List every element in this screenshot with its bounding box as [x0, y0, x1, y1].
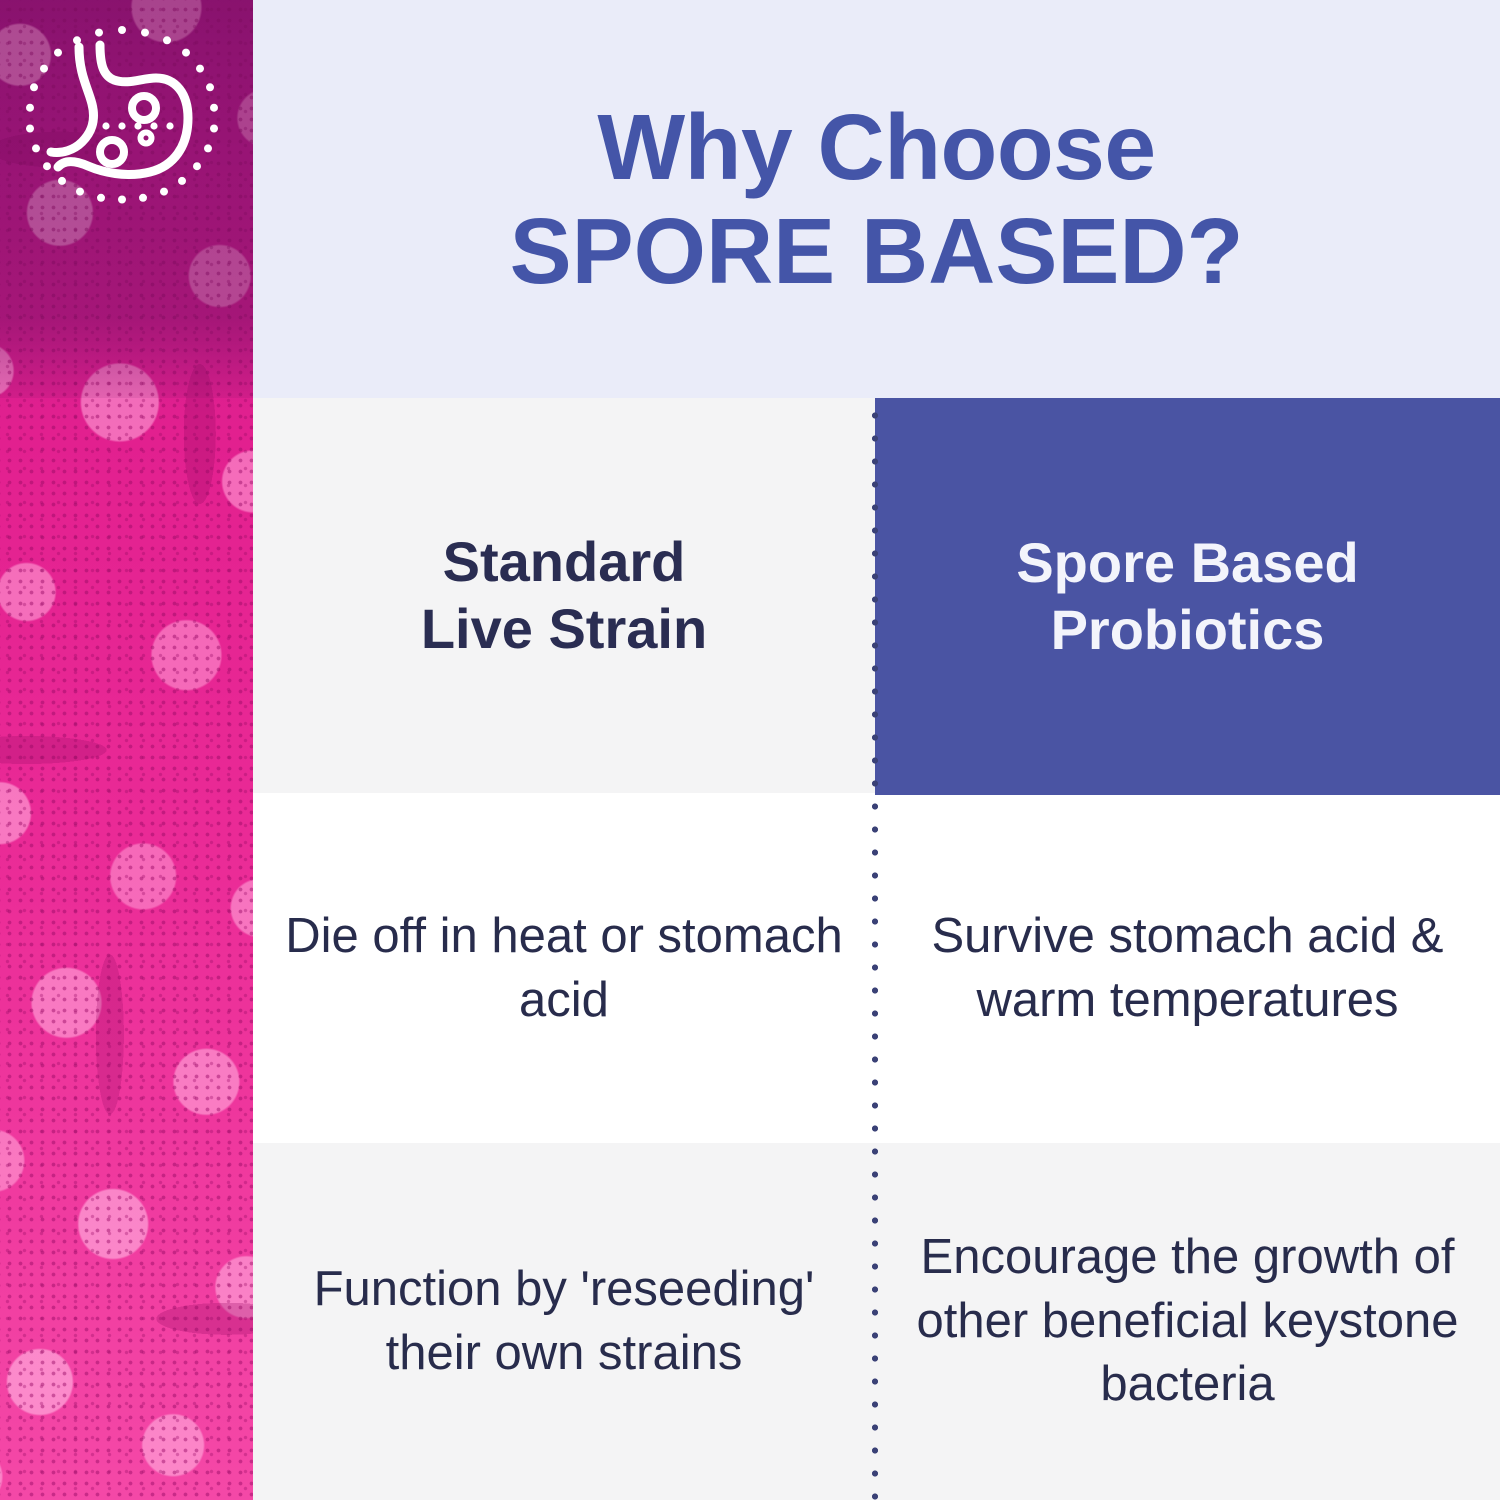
- column-divider: [872, 404, 878, 1500]
- column-header-standard-line-1: Standard: [421, 529, 707, 595]
- column-header-spore: Spore Based Probiotics: [875, 398, 1500, 795]
- title-line-1: Why Choose: [510, 95, 1244, 199]
- column-header-standard-line-2: Live Strain: [421, 596, 707, 662]
- column-header-standard-text: Standard Live Strain: [421, 529, 707, 661]
- column-header-spore-text: Spore Based Probiotics: [1016, 530, 1358, 662]
- column-header-standard: Standard Live Strain: [253, 398, 875, 793]
- infographic-page: Why Choose SPORE BASED? Standard Live St…: [0, 0, 1500, 1500]
- column-header-spore-line-2: Probiotics: [1016, 597, 1358, 663]
- header-band: Why Choose SPORE BASED?: [253, 0, 1500, 398]
- stomach-icon: [22, 22, 222, 222]
- cell-standard-1: Die off in heat or stomach acid: [253, 795, 875, 1143]
- column-header-spore-line-1: Spore Based: [1016, 530, 1358, 596]
- cell-texture-strip: [0, 0, 253, 1500]
- cell-standard-2: Function by 'reseeding' their own strain…: [253, 1143, 875, 1500]
- cell-spore-2: Encourage the growth of other beneficial…: [875, 1143, 1500, 1500]
- cell-spore-1: Survive stomach acid & warm temperatures: [875, 795, 1500, 1143]
- title-line-2: SPORE BASED?: [510, 199, 1244, 303]
- page-title: Why Choose SPORE BASED?: [510, 95, 1244, 303]
